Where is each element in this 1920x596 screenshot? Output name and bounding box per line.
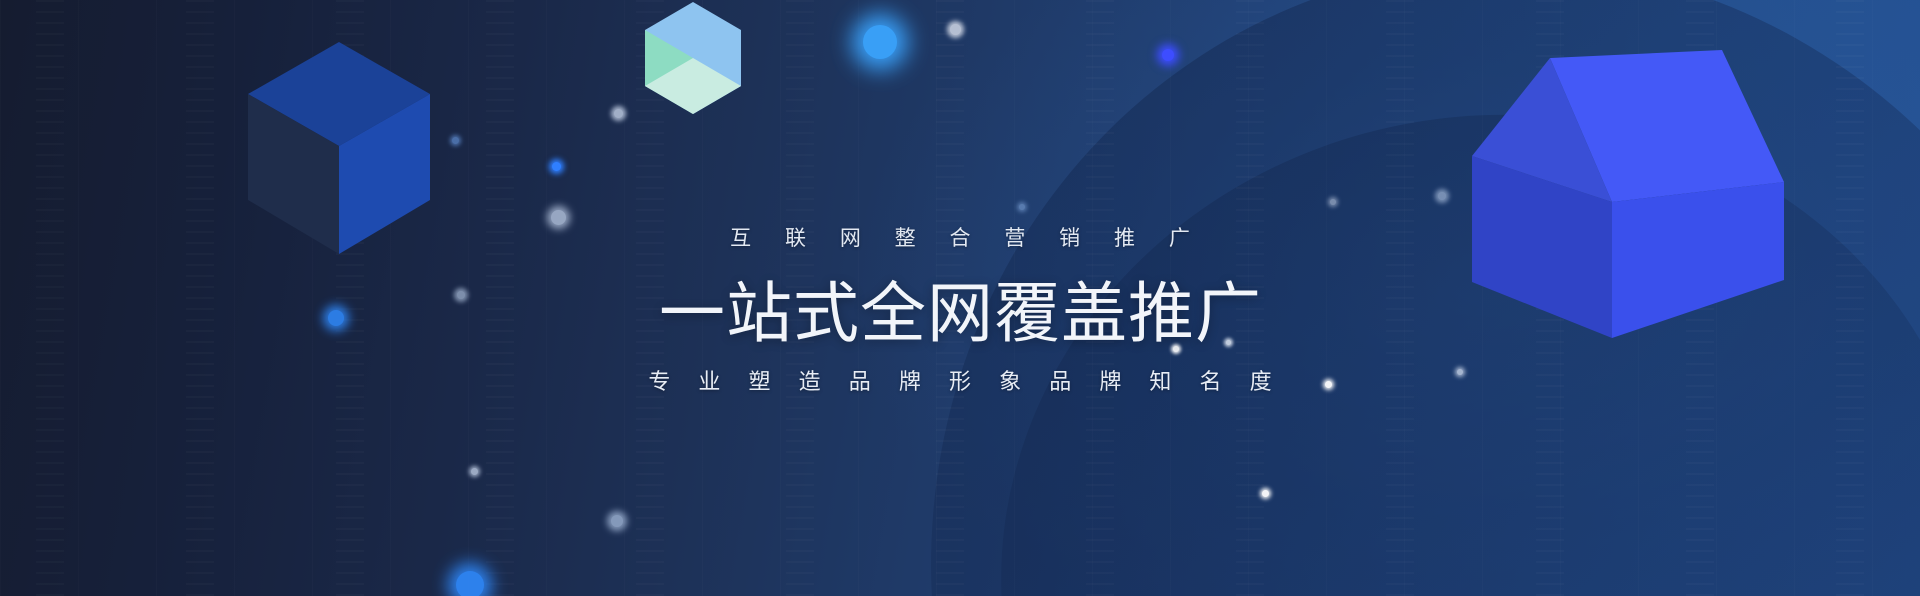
cube-green-small — [645, 2, 741, 115]
banner-headline: 一站式全网覆盖推广 — [0, 272, 1920, 354]
dot-white-7 — [1262, 490, 1269, 497]
dot-soft-white-8 — [1330, 199, 1336, 205]
dot-glow-cyan-2 — [456, 571, 484, 596]
dot-violet-1 — [1162, 49, 1174, 61]
dot-blue-5 — [1019, 204, 1025, 210]
promo-banner: 互 联 网 整 合 营 销 推 广 一站式全网覆盖推广 专 业 塑 造 品 牌 … — [0, 0, 1920, 596]
dot-glow-cyan-1 — [863, 25, 897, 59]
dot-soft-white-5 — [471, 468, 478, 475]
banner-eyebrow: 互 联 网 整 合 营 销 推 广 — [0, 226, 1920, 252]
dot-blue-2 — [552, 162, 561, 171]
dot-soft-white-2 — [614, 109, 623, 118]
dot-soft-white-7 — [1438, 192, 1446, 200]
banner-subline: 专 业 塑 造 品 牌 形 象 品 牌 知 名 度 — [0, 367, 1920, 397]
cube-navy-medium — [248, 42, 430, 254]
dot-blue-3 — [452, 137, 459, 144]
dot-soft-white-1 — [950, 24, 961, 35]
dot-soft-white-3 — [551, 210, 566, 225]
dot-soft-white-6 — [611, 515, 623, 527]
